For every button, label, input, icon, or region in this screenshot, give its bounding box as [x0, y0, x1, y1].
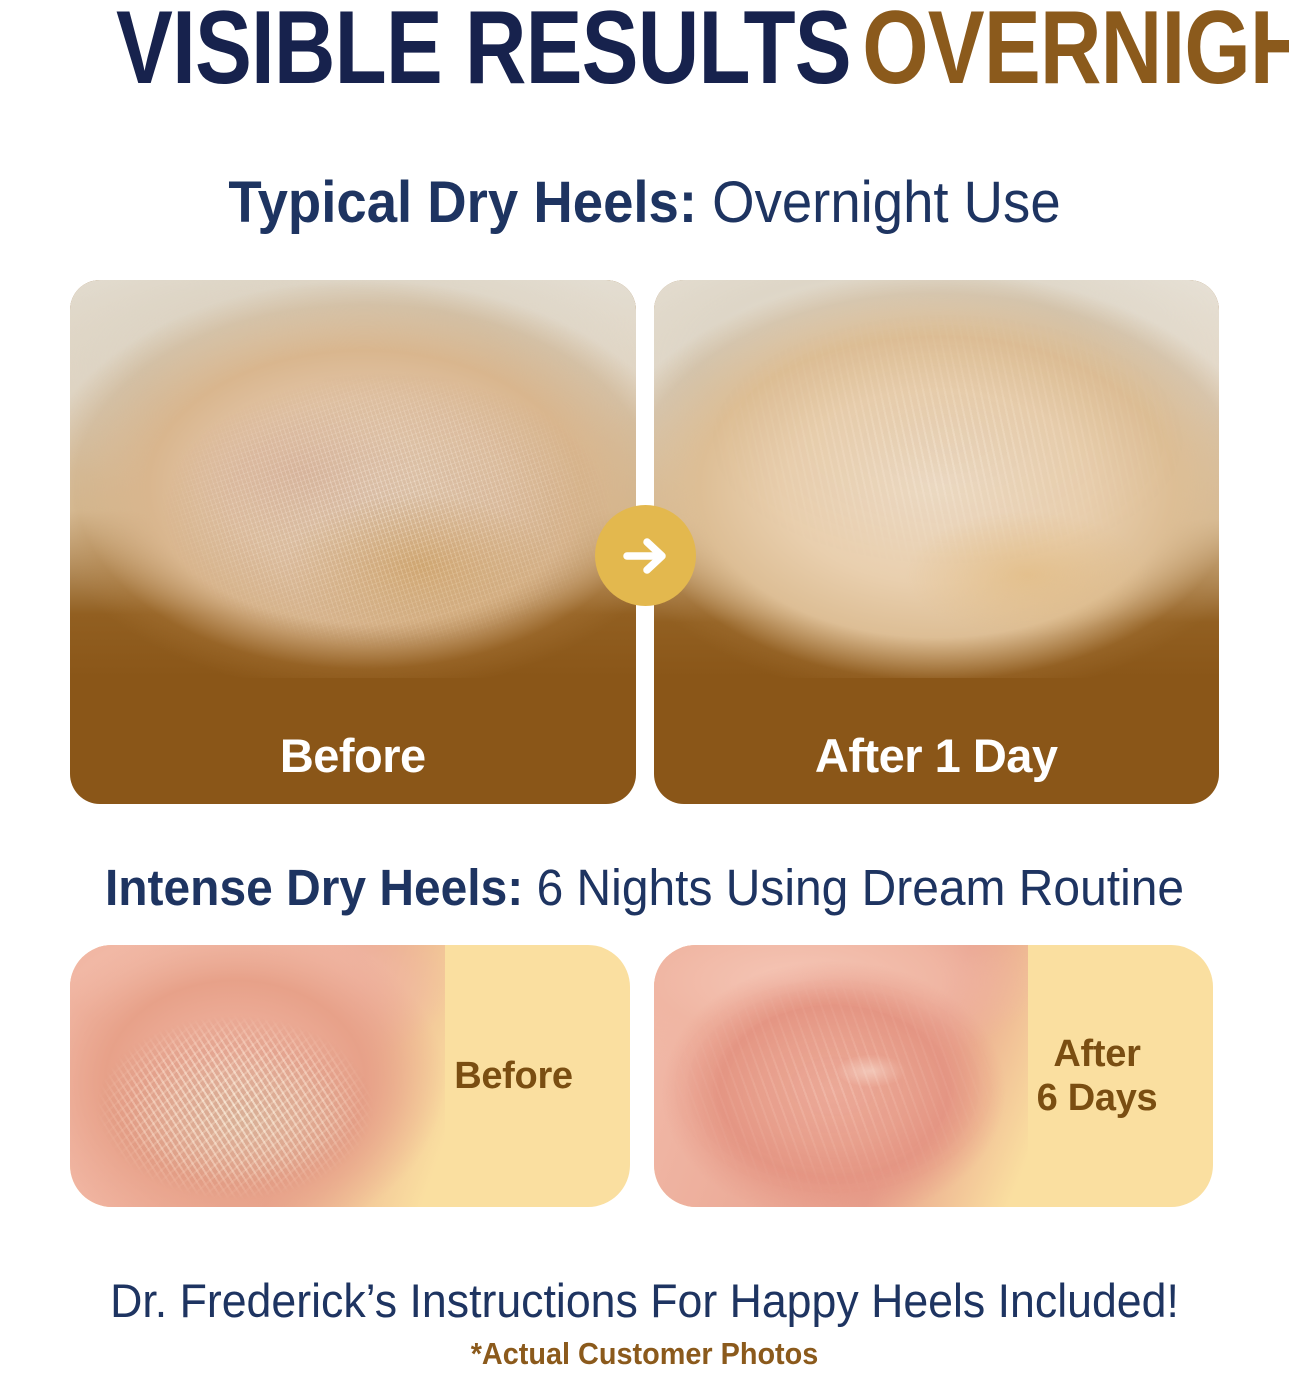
arrow-right-icon — [620, 536, 672, 576]
comparison-card-after-top: After 1 Day — [654, 280, 1220, 804]
comparison-card-after-bottom: After 6 Days — [654, 945, 1214, 1207]
card-label-after-top: After 1 Day — [654, 730, 1220, 782]
card-label-after-bottom: After 6 Days — [1007, 1032, 1187, 1120]
card-label-before-top: Before — [70, 730, 636, 782]
arrow-right-badge — [595, 505, 696, 606]
headline-part-navy: VISIBLE RESULTS — [116, 0, 851, 106]
footer-disclaimer-text: *Actual Customer Photos — [45, 1337, 1244, 1371]
footer-instructions-text: Dr. Frederick’s Instructions For Happy H… — [32, 1275, 1257, 1327]
healed-heel-photo — [654, 945, 1029, 1207]
section-heading-intense-regular: 6 Nights Using Dream Routine — [523, 859, 1184, 916]
comparison-card-before-bottom: Before — [70, 945, 630, 1207]
comparison-card-before-top: Before — [70, 280, 636, 804]
dry-cracked-heel-photo — [70, 280, 636, 678]
card-label-before-bottom: Before — [424, 1054, 604, 1098]
headline-part-brown: OVERNIGHT — [862, 0, 1289, 106]
section-heading-intense-bold: Intense Dry Heels: — [105, 859, 523, 916]
section-heading-typical-regular: Overnight Use — [697, 170, 1061, 235]
comparison-row-intense: Before After 6 Days — [70, 945, 1213, 1207]
main-headline: VISIBLE RESULTSOVERNIGHT — [116, 0, 1173, 102]
section-heading-intense: Intense Dry Heels: 6 Nights Using Dream … — [39, 861, 1251, 915]
promo-image-root: VISIBLE RESULTSOVERNIGHT Typical Dry Hee… — [0, 0, 1289, 1376]
section-heading-typical: Typical Dry Heels: Overnight Use — [39, 172, 1251, 234]
severely-cracked-heel-photo — [70, 945, 445, 1207]
section-heading-typical-bold: Typical Dry Heels: — [228, 170, 697, 235]
smooth-heel-photo — [654, 280, 1220, 678]
